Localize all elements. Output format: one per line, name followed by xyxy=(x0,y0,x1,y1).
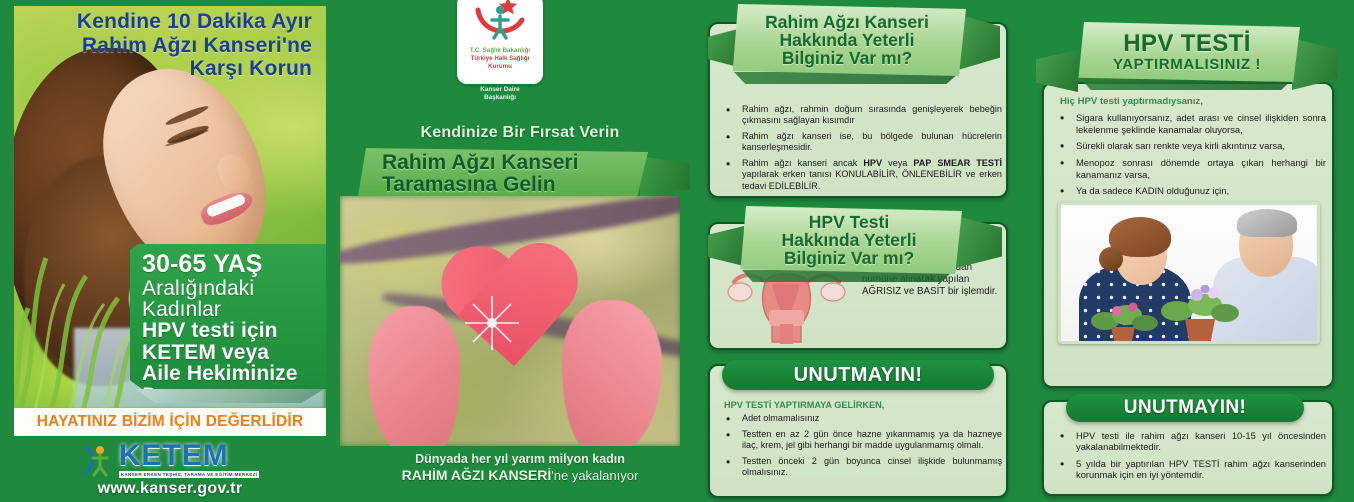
ketem-url[interactable]: www.kanser.gov.tr xyxy=(98,480,243,498)
ribbon-b-line-1: HPV Testi xyxy=(809,213,889,231)
ribbon-b-line-2: Hakkında Yeterli xyxy=(782,231,917,249)
footer-line-1: Dünyada her yıl yarım milyon kadın xyxy=(340,452,700,467)
list-item: Ya da sadece KADIN olduğunuz için, xyxy=(1054,185,1326,197)
photo-color-overlay xyxy=(340,196,680,446)
ministry-of-health-logo: T.C. Sağlık Bakanlığı Türkiye Halk Sağlı… xyxy=(457,0,543,84)
footer-rest: 'ne yakalanıyor xyxy=(551,468,638,483)
poster-root: 30-65 YAŞ Aralığındaki Kadınlar HPV test… xyxy=(0,0,1354,502)
b3-mid: veya xyxy=(882,158,913,168)
panel2-banner: Rahim Ağzı Kanseri Taramasına Gelin xyxy=(358,148,648,200)
ministry-line-2: Türkiye Halk Sağlığı xyxy=(470,55,530,63)
ribbon-a-line-2: Hakkında Yeterli xyxy=(780,31,915,49)
unutmayin-pill-panel3: UNUTMAYIN! xyxy=(722,360,994,390)
callout-fold xyxy=(136,389,324,403)
card-p4b-bullets: HPV testi ile rahim ağzı kanseri 10-15 y… xyxy=(1054,430,1326,481)
list-item: Sürekli olarak sarı renkte veya kirli ak… xyxy=(1054,140,1326,152)
ribbon-b-line-3: Bilginiz Var mı? xyxy=(784,249,914,267)
list-item: Sigara kullanıyorsanız, adet arası ve ci… xyxy=(1054,112,1326,135)
ministry-line-1: T.C. Sağlık Bakanlığı xyxy=(470,47,530,55)
unutmayin-label-panel3: UNUTMAYIN! xyxy=(794,364,923,387)
list-item: Testten en az 2 gün önce hazne yıkanmamı… xyxy=(720,429,1002,451)
ribbon-hpv-test-call: HPV TESTİ YAPTIRMALISINIZ ! xyxy=(1074,22,1300,82)
ministry-text: T.C. Sağlık Bakanlığı Türkiye Halk Sağlı… xyxy=(470,47,530,70)
panel-third: Rahim ağzı, rahmin doğum sırasında geniş… xyxy=(700,0,1020,502)
ribbon-a-line-1: Rahim Ağzı Kanseri xyxy=(765,13,929,31)
age-callout-box: 30-65 YAŞ Aralığındaki Kadınlar HPV test… xyxy=(130,244,326,389)
department-line-1: Kanser Daire xyxy=(457,86,543,94)
info-card-should-get-tested: Hiç HPV testi yaptırmadıysanız, Sigara k… xyxy=(1042,82,1334,388)
footer-line-2: RAHİM AĞZI KANSERİ'ne yakalanıyor xyxy=(340,467,700,484)
list-item: Rahim ağzı, rahmin doğum sırasında geniş… xyxy=(720,104,1002,126)
ministry-line-3: Kurumu xyxy=(470,63,530,71)
list-item: 5 yılda bir yaptırılan HPV TESTİ rahim a… xyxy=(1054,458,1326,481)
card-p4-bullets: Sigara kullanıyorsanız, adet arası ve ci… xyxy=(1054,112,1326,197)
ministry-department: Kanser Daire Başkanlığı xyxy=(457,86,543,102)
potted-plant-left-icon xyxy=(1087,301,1159,344)
card-a-body: Rahim ağzı, rahmin doğum sırasında geniş… xyxy=(720,104,1002,197)
b3-post: yapılarak erken tanısı KONULABİLİR, ÖNLE… xyxy=(742,169,1002,190)
panel-left: 30-65 YAŞ Aralığındaki Kadınlar HPV test… xyxy=(0,0,340,502)
card-p4-heading: Hiç HPV testi yaptırmadıysanız, xyxy=(1060,96,1203,107)
card-c-heading: HPV TESTİ YAPTIRMAYA GELİRKEN, xyxy=(724,400,884,410)
unutmayin-pill-panel4: UNUTMAYIN! xyxy=(1066,394,1304,422)
card-p4-body: Sigara kullanıyorsanız, adet arası ve ci… xyxy=(1054,112,1326,202)
ministry-emblem-icon xyxy=(470,0,530,46)
ketem-tagline: KANSER ERKEN TEŞHİS, TARAMA VE EĞİTİM ME… xyxy=(119,471,260,478)
age-range: 30-65 YAŞ xyxy=(142,252,320,278)
list-item: Rahim ağzı kanseri ise, bu bölgede bulun… xyxy=(720,131,1002,153)
unutmayin-label-panel4: UNUTMAYIN! xyxy=(1124,397,1247,419)
list-item: Adet olmamalısınız xyxy=(720,413,1002,424)
footer-bold: RAHİM AĞZI KANSERİ xyxy=(402,467,552,483)
age-line3: Kadınlar xyxy=(142,299,320,320)
card-p4b-body: HPV testi ile rahim ağzı kanseri 10-15 y… xyxy=(1054,430,1326,486)
panel1-headline: Kendine 10 Dakika Ayır Rahim Ağzı Kanser… xyxy=(14,10,326,81)
woman-hair-bun xyxy=(1099,247,1123,271)
b3-pre: Rahim ağzı kanseri ancak xyxy=(742,158,863,168)
b3-pap: PAP SMEAR TESTİ xyxy=(913,158,1002,168)
slogan-text: HAYATINIZ BİZİM İÇİN DEĞERLİDİR xyxy=(37,413,304,431)
age-line4: HPV testi için xyxy=(142,320,320,341)
department-line-2: Başkanlığı xyxy=(457,94,543,102)
ribbon-a-line-3: Bilginiz Var mı? xyxy=(782,49,912,67)
panel2-banner-wing xyxy=(640,156,690,198)
panel2-kicker: Kendinize Bir Fırsat Verin xyxy=(340,124,700,142)
hands-heart-photo xyxy=(340,196,680,446)
potted-plant-right-icon xyxy=(1157,285,1241,343)
headline-line-2: Rahim Ağzı Kanseri'ne xyxy=(14,34,312,58)
age-line5: KETEM veya xyxy=(142,342,320,363)
card-c-bullets: Adet olmamalısınız Testten en az 2 gün ö… xyxy=(720,413,1002,478)
man-hair xyxy=(1237,209,1297,237)
card-a-bullets: Rahim ağzı, rahmin doğum sırasında geniş… xyxy=(720,104,1002,192)
list-item: Menopoz sonrası dönemde ortaya çıkan her… xyxy=(1054,157,1326,180)
ribbon-p4-line-1: HPV TESTİ xyxy=(1123,32,1251,57)
panel-right: Hiç HPV testi yaptırmadıysanız, Sigara k… xyxy=(1020,0,1354,502)
panel-center: T.C. Sağlık Bakanlığı Türkiye Halk Sağlı… xyxy=(340,0,700,502)
age-line2: Aralığındaki xyxy=(142,278,320,299)
panel2-banner-line-1: Rahim Ağzı Kanseri xyxy=(382,152,578,174)
list-item: Testten önceki 2 gün boyunca cinsel iliş… xyxy=(720,456,1002,478)
panel2-footer: Dünyada her yıl yarım milyon kadın RAHİM… xyxy=(340,452,700,484)
card-c-body: Adet olmamalısınız Testten en az 2 gün ö… xyxy=(720,413,1002,483)
ketem-logo-block: KETEM KANSER ERKEN TEŞHİS, TARAMA VE EĞİ… xyxy=(14,438,326,502)
ribbon-cervical-cancer-question: Rahim Ağzı Kanseri Hakkında Yeterli Bilg… xyxy=(728,4,966,76)
ribbon-p4-line-2: YAPTIRMALISINIZ ! xyxy=(1113,57,1261,72)
list-item: HPV testi ile rahim ağzı kanseri 10-15 y… xyxy=(1054,430,1326,453)
ketem-wordmark-wrap: KETEM KANSER ERKEN TEŞHİS, TARAMA VE EĞİ… xyxy=(119,442,260,479)
ribbon-wing-right-p4 xyxy=(1292,38,1338,90)
ketem-wordmark: KETEM xyxy=(119,442,260,471)
b3-hpv: HPV xyxy=(863,158,882,168)
headline-line-1: Kendine 10 Dakika Ayır xyxy=(14,10,312,34)
ribbon-wing-left-p4 xyxy=(1036,50,1078,92)
list-item: Rahim ağzı kanseri ancak HPV veya PAP SM… xyxy=(720,158,1002,191)
elderly-couple-photo xyxy=(1058,202,1320,344)
age-line6: Aile Hekiminize xyxy=(142,363,320,384)
ketem-logo-row: KETEM KANSER ERKEN TEŞHİS, TARAMA VE EĞİ… xyxy=(81,442,260,479)
ribbon-hpv-test-question: HPV Testi Hakkında Yeterli Bilginiz Var … xyxy=(736,206,962,274)
slogan-band: HAYATINIZ BİZİM İÇİN DEĞERLİDİR xyxy=(14,408,326,436)
panel2-banner-line-2: Taramasına Gelin xyxy=(382,174,578,196)
ketem-figure-icon xyxy=(81,443,115,477)
headline-line-3: Karşı Korun xyxy=(14,57,312,81)
